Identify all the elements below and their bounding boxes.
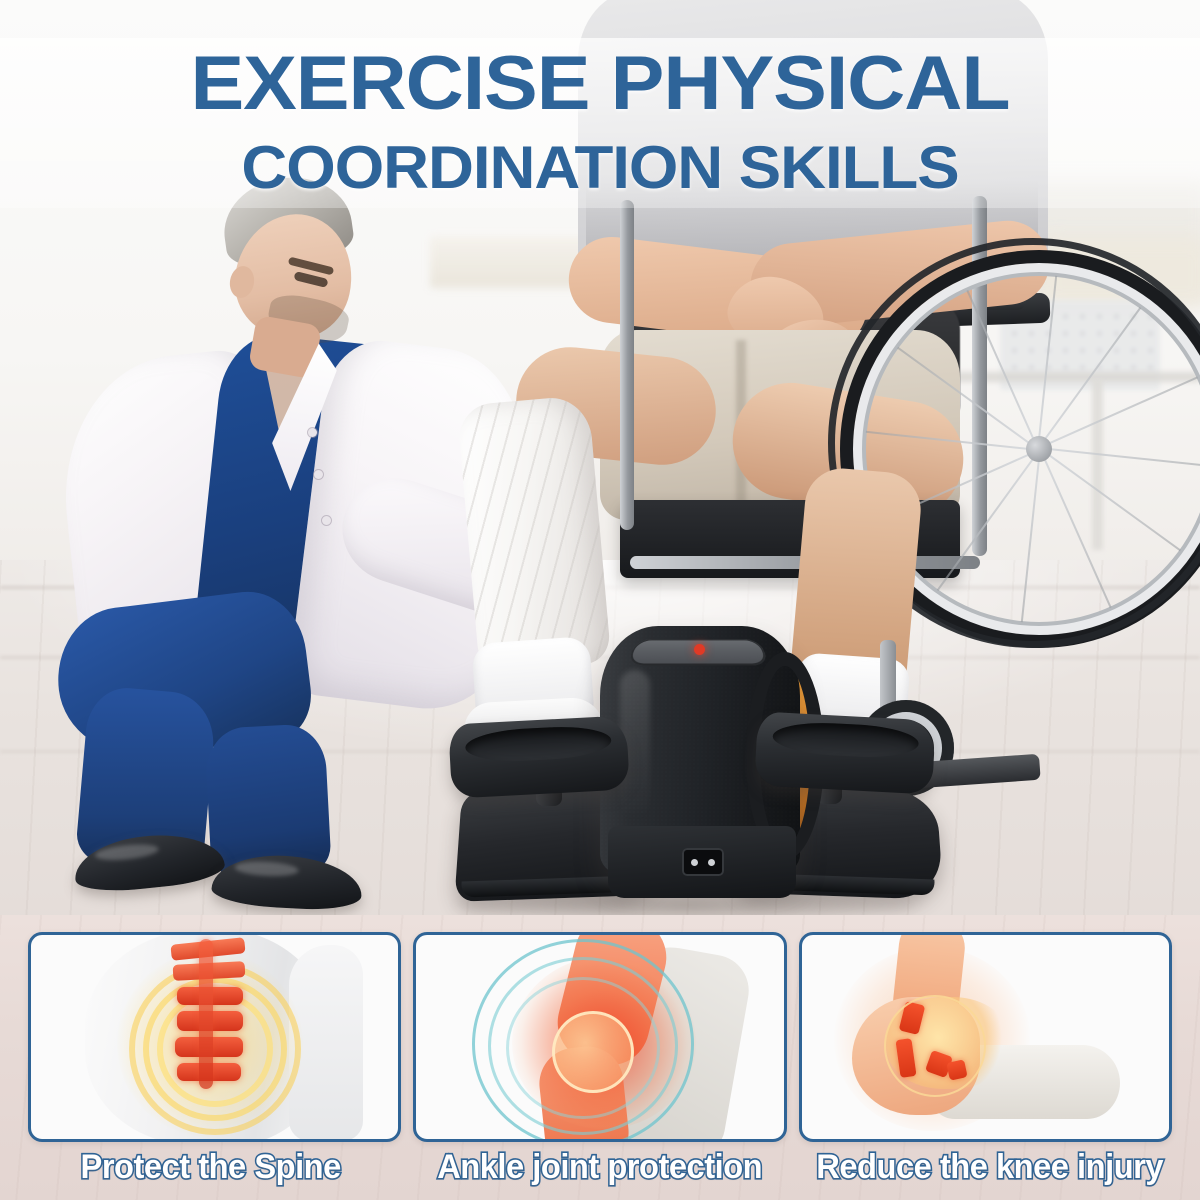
page-title: EXERCISE PHYSICAL COORDINATION SKILLS	[0, 46, 1200, 198]
spine-anatomy-icon	[31, 935, 398, 1139]
headline-line-2: COORDINATION SKILLS	[0, 138, 1200, 198]
power-indicator-led-icon	[694, 644, 705, 655]
knee-anatomy-icon	[416, 935, 783, 1139]
feature-captions: Protect the Spine Ankle joint protection…	[0, 1138, 1200, 1196]
headline-line-1: EXERCISE PHYSICAL	[0, 46, 1200, 122]
feature-cards	[0, 932, 1200, 1142]
product-power-socket[interactable]	[682, 848, 724, 876]
caption-spine: Protect the Spine	[24, 1138, 398, 1196]
product-pedal-left[interactable]	[448, 715, 630, 798]
feature-card-ankle[interactable]	[413, 932, 786, 1142]
feature-card-knee[interactable]	[799, 932, 1172, 1142]
feature-card-spine[interactable]	[28, 932, 401, 1142]
caption-knee: Reduce the knee injury	[802, 1138, 1176, 1196]
ankle-anatomy-icon	[802, 935, 1169, 1139]
chair-frame-upright-left	[620, 200, 634, 530]
leg-exerciser-product[interactable]	[440, 600, 940, 930]
product-marketing-poster: EXERCISE PHYSICAL COORDINATION SKILLS	[0, 0, 1200, 1200]
product-pedal-right[interactable]	[754, 711, 936, 794]
caption-ankle: Ankle joint protection	[413, 1138, 787, 1196]
